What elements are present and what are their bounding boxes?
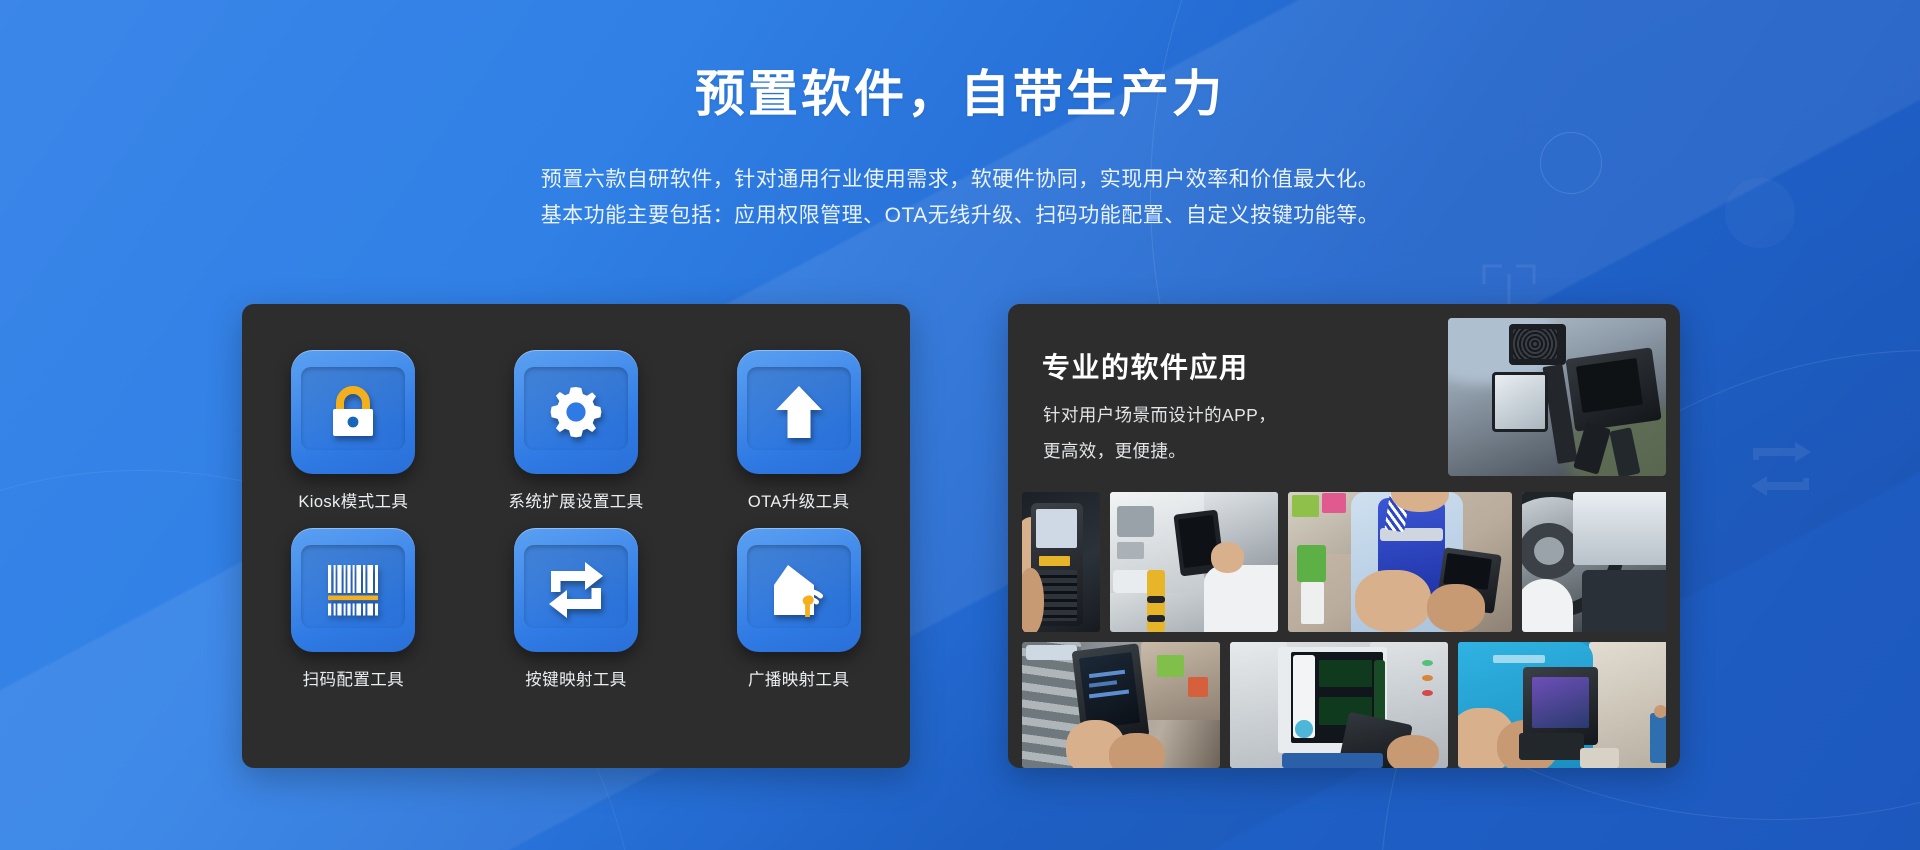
gear-icon [545, 381, 607, 443]
app-item-ota-upgrade[interactable]: OTA升级工具 [709, 350, 889, 512]
right-panel-desc-line-1: 针对用户场景而设计的APP， [1043, 402, 1276, 427]
loop-arrows-watermark-icon [1745, 440, 1817, 500]
app-label: 扫码配置工具 [263, 666, 443, 690]
app-label: 广播映射工具 [709, 666, 889, 690]
app-label: OTA升级工具 [709, 488, 889, 512]
barcode-icon [322, 559, 384, 621]
broadcast-house-icon [768, 559, 830, 621]
app-item-broadcast-mapping[interactable]: 广播映射工具 [709, 528, 889, 690]
app-item-key-mapping[interactable]: 按键映射工具 [486, 528, 666, 690]
hero-banner: 预置软件，自带生产力 预置六款自研软件，针对通用行业使用需求，软硬件协同，实现用… [0, 0, 1920, 850]
page-title: 预置软件，自带生产力 [0, 54, 1920, 126]
app-tile[interactable] [737, 528, 861, 652]
app-item-kiosk[interactable]: Kiosk模式工具 [263, 350, 443, 512]
gallery-row-2 [1022, 642, 1666, 768]
app-label: 按键映射工具 [486, 666, 666, 690]
app-tile[interactable] [514, 528, 638, 652]
preinstalled-apps-panel: Kiosk模式工具 系统扩展设置工具 OT [242, 304, 910, 768]
app-tile[interactable] [737, 350, 861, 474]
key-mapping-loop-icon [545, 559, 607, 621]
vehicle-mounted-terminal-photo [1448, 318, 1666, 476]
steering-wheel-cab-photo [1522, 492, 1666, 632]
lock-icon [322, 381, 384, 443]
app-tile[interactable] [291, 350, 415, 474]
app-tile[interactable] [291, 528, 415, 652]
app-icon-grid: Kiosk模式工具 系统扩展设置工具 OT [242, 350, 910, 690]
right-panel-heading: 专业的软件应用 [1042, 346, 1249, 386]
factory-machine-screen-photo [1230, 642, 1448, 768]
handheld-scanner-photo [1022, 492, 1100, 632]
app-item-system-extension-settings[interactable]: 系统扩展设置工具 [486, 350, 666, 512]
professional-software-panel: 专业的软件应用 针对用户场景而设计的APP， 更高效，更便捷。 [1008, 304, 1680, 768]
warehouse-shelf-tablet-photo [1022, 642, 1220, 768]
app-item-scan-config[interactable]: 扫码配置工具 [263, 528, 443, 690]
retail-staff-handheld-photo [1288, 492, 1512, 632]
logistics-worker-scanner-photo [1458, 642, 1666, 768]
app-tile[interactable] [514, 350, 638, 474]
right-panel-desc-line-2: 更高效，更便捷。 [1043, 438, 1186, 463]
gallery-row-1 [1022, 492, 1666, 632]
truck-inspection-tablet-photo [1110, 492, 1278, 632]
hero-subtitle-line-2: 基本功能主要包括：应用权限管理、OTA无线升级、扫码功能配置、自定义按键功能等。 [0, 199, 1920, 229]
app-label: 系统扩展设置工具 [486, 488, 666, 512]
up-arrow-icon [768, 381, 830, 443]
app-label: Kiosk模式工具 [263, 488, 443, 512]
hero-subtitle-line-1: 预置六款自研软件，针对通用行业使用需求，软硬件协同，实现用户效率和价值最大化。 [0, 163, 1920, 193]
